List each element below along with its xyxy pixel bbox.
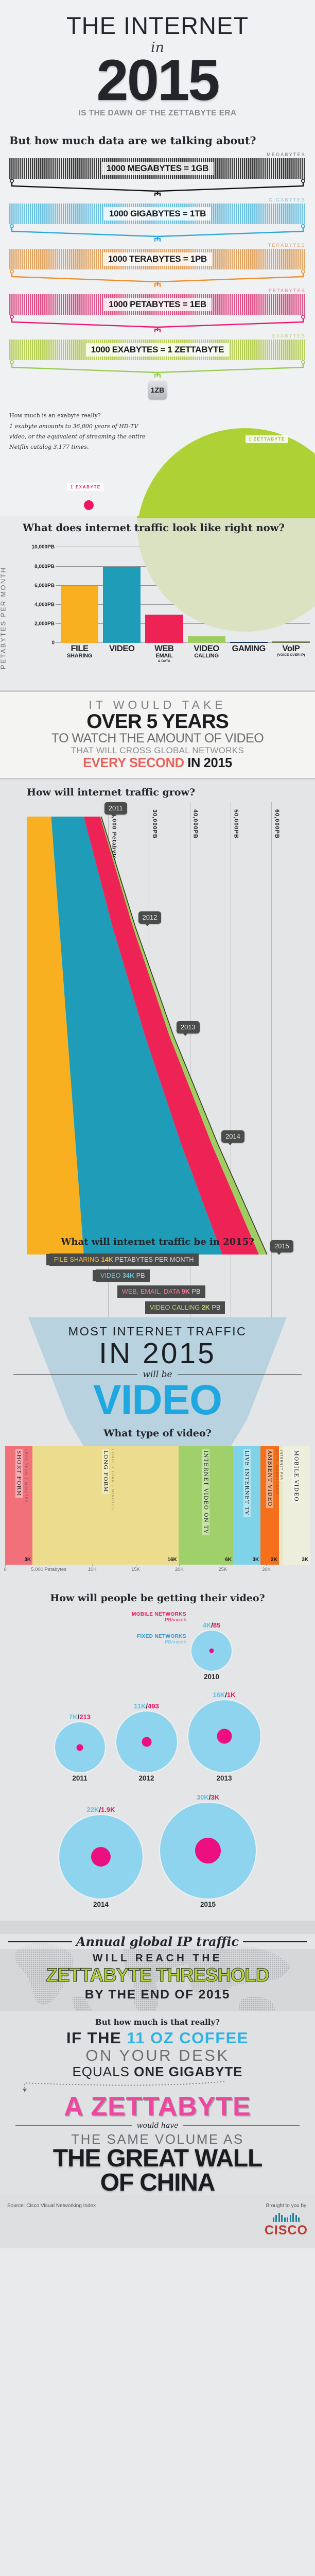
y-axis-tick-label: 0: [17, 640, 55, 646]
ladder-row: PETABYTES1000 PETABYTES = 1EB: [9, 288, 306, 332]
ladder-connector: [9, 269, 306, 287]
callout-value: 2K: [202, 1304, 210, 1311]
ladder-row: EXABYTES1000 EXABYTES = 1 ZETTABYTE: [9, 333, 306, 374]
bar: [145, 615, 183, 643]
exabyte-note: How much is an exabyte really? 1 exabyte…: [9, 411, 151, 452]
bubble-fixed-value: 22K: [87, 1806, 99, 1814]
traffic-2015-heading: What will internet traffic be in 2015?: [0, 1236, 315, 1247]
bubble-fixed-ring: [188, 1700, 260, 1772]
video-axis-tick: 25K: [218, 1567, 227, 1572]
bar-label-line2: CALLING: [188, 653, 225, 659]
bar-column: [145, 547, 183, 643]
bar-label: VIDEOCALLING: [188, 645, 225, 682]
current-traffic-title: What does internet traffic look like rig…: [0, 516, 315, 534]
y-axis-tick-label: 6,000PB: [17, 583, 55, 588]
bubble-fixed-ring: [160, 1803, 256, 1899]
bar-column: [272, 547, 310, 643]
bubble-mobile-value: 85: [213, 1621, 220, 1629]
bar-label: VIDEO: [103, 645, 141, 682]
zthr-line-1-text: Annual global IP traffic: [76, 1934, 239, 1949]
video-type-sub: LONGER THAN 7 MINUTES: [111, 1449, 114, 1511]
bubble-2015: 30K/3K2015: [160, 1793, 256, 1908]
banner-line-4: THAT WILL CROSS GLOBAL NETWORKS: [5, 745, 310, 756]
callout-list: FILE SHARING 14K PETABYTES PER MONTHVIDE…: [0, 1253, 315, 1314]
bar-label-line1: VIDEO: [188, 645, 225, 653]
ladder-row-caption: TERABYTES: [9, 243, 306, 248]
bubble-fixed-value: 16K: [213, 1691, 225, 1699]
callout-pill: WEB, EMAIL, DATA 9K PB: [117, 1285, 205, 1298]
video-type-name: AMBIENT VIDEO: [266, 1449, 273, 1507]
ladder-rows: MEGABYTES1000 MEGABYTES = 1GBGIGABYTES10…: [9, 152, 306, 374]
video-type-value: 6K: [225, 1557, 232, 1563]
coffee-comparison-section: But how much is that really? IF THE 11 O…: [0, 2011, 315, 2195]
bubble-mobile-value: 213: [79, 1713, 91, 1721]
video-type-segment: INTERNET VIDEO ON TV6K: [179, 1446, 233, 1565]
traffic-callout: WEB, EMAIL, DATA 9K PB: [0, 1285, 315, 1298]
year-pill: 2013: [177, 1021, 200, 1033]
video-type-segment: AMBIENT VIDEOCCTV, NANNYCAMS2K: [260, 1446, 278, 1565]
bubble-mobile-core: [195, 1838, 221, 1863]
y-axis-title: PETABYTES PER MONTH: [0, 567, 7, 669]
zthr-line-4: BY THE END OF 2015: [0, 1988, 315, 2002]
bar-column: [103, 547, 141, 643]
exabyte-answer: 1 exabyte amounts to 36,000 years of HD-…: [9, 421, 151, 453]
ladder-row-label: 1000 MEGABYTES = 1GB: [101, 162, 214, 175]
traffic-growth-plot: 20,000 Petabytes30,000PB40,000PB50,000PB…: [0, 802, 315, 1317]
video-axis-tick: 0: [4, 1567, 6, 1572]
video-axis-tick: 20K: [175, 1567, 184, 1572]
banner-line-2: OVER 5 YEARS: [5, 711, 310, 732]
bubble-2013: 16K/1K2013: [188, 1691, 260, 1782]
callout-unit: PB: [192, 1288, 201, 1295]
video-type-segment: LONG FORMLONGER THAN 7 MINUTES16K: [32, 1446, 179, 1565]
callout-pill: FILE SHARING 14K PETABYTES PER MONTH: [49, 1253, 199, 1266]
traffic-2015-callouts: What will internet traffic be in 2015? F…: [0, 1229, 315, 1317]
traffic-growth-title: How will internet traffic grow?: [0, 779, 315, 802]
bar-series: [61, 547, 310, 643]
video-type-value: 2K: [271, 1557, 277, 1563]
year-pill: 2014: [221, 1130, 244, 1143]
coffee-line-5: would have: [3, 2122, 312, 2130]
bubble-fixed-ring: [191, 1631, 232, 1671]
video-type-value: 3K: [302, 1557, 308, 1563]
bubble-2014: 22K/1.9K2014: [59, 1806, 143, 1908]
bar-label: FILESHARING: [61, 645, 98, 682]
bar-label: GAMING: [230, 645, 268, 682]
ladder-row-label: 1000 TERABYTES = 1PB: [103, 252, 212, 266]
dotted-arrow-icon: [3, 2080, 312, 2093]
banner-every-second: EVERY SECOND: [83, 756, 184, 770]
bubble-mobile-core: [91, 1847, 111, 1867]
video-type-name: INTERNET PVR: [279, 1449, 283, 1481]
bar-column: [188, 547, 225, 643]
hero-subtitle: IS THE DAWN OF THE ZETTABYTE ERA: [0, 109, 315, 118]
ladder-row: GIGABYTES1000 GIGABYTES = 1TB: [9, 197, 306, 242]
video-types-title: What type of video?: [0, 1419, 315, 1446]
bubble-fixed-value: 4K: [203, 1621, 212, 1629]
zettabyte-threshold-inner: Annual global IP traffic WILL REACH THE …: [0, 1934, 315, 2002]
exabyte-note-section: 1ZB 1 ZETTABYTE 1 EXABYTE How much is an…: [0, 378, 315, 516]
callout-name: VIDEO: [100, 1272, 120, 1279]
callout-pill: VIDEO 34K PB: [96, 1269, 150, 1282]
video-type-sub: CCTV, NANNYCAMS: [275, 1449, 278, 1495]
bar-label-line3: (VOICE OVER IP): [272, 653, 310, 657]
bubble-values: 16K/1K: [188, 1691, 260, 1699]
year-pill: 2015: [270, 1240, 293, 1252]
video-type-name: LONG FORM: [102, 1449, 109, 1494]
coffee-line-1: IF THE 11 OZ COFFEE: [3, 2030, 312, 2047]
source-text: Source: Cisco Visual Networking Index: [7, 2203, 96, 2209]
legend-fixed: FIXED NETWORKS PB/month: [83, 1634, 186, 1645]
bar: [188, 636, 225, 643]
bar: [272, 641, 310, 643]
ladder-row-label: 1000 GIGABYTES = 1TB: [104, 207, 211, 221]
video-type-name: INTERNET VIDEO ON TV: [202, 1449, 209, 1535]
video-types-bar: SHORT FORMLESS THAN 7 MINUTES3KLONG FORM…: [5, 1446, 310, 1565]
video-type-value: 3K: [252, 1557, 259, 1563]
bubble-2010: 4K/852010: [191, 1621, 232, 1681]
video-delivery-title: How will people be getting their video?: [0, 1592, 315, 1604]
banner-in-2015: IN 2015: [184, 756, 232, 770]
ladder-row-bar: 1000 GIGABYTES = 1TB: [9, 204, 306, 224]
video-banner-section: MOST INTERNET TRAFFIC IN 2015 will be VI…: [0, 1317, 315, 1420]
coffee-great-wall: THE GREAT WALL: [3, 2146, 312, 2171]
exabyte-tag: 1 EXABYTE: [67, 483, 104, 491]
video-banner-line-1: MOST INTERNET TRAFFIC: [0, 1325, 315, 1338]
five-years-banner: IT WOULD TAKE OVER 5 YEARS TO WATCH THE …: [0, 690, 315, 779]
callout-value: 14K: [101, 1256, 113, 1263]
bubble-mobile-core: [209, 1649, 214, 1653]
banner-line-3: TO WATCH THE AMOUNT OF VIDEO: [5, 732, 310, 745]
video-type-name: LIVE INTERNET TV: [243, 1449, 251, 1517]
bubble-mobile-value: 493: [148, 1702, 159, 1710]
bubble-fixed-ring: [59, 1815, 143, 1899]
zettabyte-tag: 1 ZETTABYTE: [246, 435, 288, 443]
bubble-values: 7K/213: [55, 1713, 105, 1721]
zettabyte-blob: [137, 428, 315, 516]
bubble-mobile-value: 1K: [227, 1691, 236, 1699]
video-types-section: What type of video? SHORT FORMLESS THAN …: [0, 1419, 315, 1585]
page-title: THE INTERNET: [0, 13, 315, 38]
video-type-value: 3K: [24, 1557, 31, 1563]
bubble-group-2010: 4K/852010: [191, 1621, 232, 1681]
bar: [230, 642, 268, 643]
video-type-value: 16K: [167, 1557, 177, 1563]
ladder-connector: [9, 224, 306, 242]
video-banner-line-2: IN 2015: [0, 1338, 315, 1368]
coffee-11oz: 11 OZ COFFEE: [127, 2029, 249, 2047]
coffee-if-the: IF THE: [66, 2029, 127, 2047]
coffee-line-6: THE SAME VOLUME AS: [3, 2132, 312, 2147]
video-type-sub: LESS THAN 7 MINUTES: [24, 1449, 28, 1503]
banner-line-1: IT WOULD TAKE: [5, 698, 310, 712]
ladder-row-bar: 1000 TERABYTES = 1PB: [9, 249, 306, 269]
video-axis-tick: 15K: [131, 1567, 140, 1572]
year-pill: 2012: [138, 911, 162, 924]
bubble-row-3: 22K/1.9K201430K/3K2015: [0, 1793, 315, 1908]
bubble-fixed-value: 7K: [69, 1713, 78, 1721]
legend-fixed-unit: PB/month: [83, 1640, 186, 1645]
bar-category-labels: FILESHARINGVIDEOWEBEMAIL& DATAVIDEOCALLI…: [61, 645, 310, 682]
ladder-connector: [9, 360, 306, 374]
video-type-segment: SHORT FORMLESS THAN 7 MINUTES3K: [5, 1446, 32, 1565]
bubble-year: 2013: [188, 1774, 260, 1782]
bar-label: VoIP(VOICE OVER IP): [272, 645, 310, 682]
bubble-year: 2011: [55, 1774, 105, 1782]
bubble-values: 4K/85: [191, 1621, 232, 1629]
current-traffic-plot: PETABYTES PER MONTH 02,000PB4,000PB6,000…: [0, 537, 315, 686]
traffic-callout: FILE SHARING 14K PETABYTES PER MONTH: [0, 1253, 315, 1266]
ladder-row-bar: 1000 PETABYTES = 1EB: [9, 294, 306, 315]
bubble-year: 2014: [59, 1901, 143, 1908]
bubble-fixed-value: 30K: [197, 1793, 209, 1801]
bubble-mobile-core: [77, 1744, 83, 1751]
coffee-of-china: OF CHINA: [3, 2171, 312, 2195]
ladder-row-bar: 1000 EXABYTES = 1 ZETTABYTE: [9, 340, 306, 360]
ladder-row-label: 1000 EXABYTES = 1 ZETTABYTE: [86, 343, 229, 357]
zthr-line-3: ZETTABYTE THRESHOLD: [0, 1965, 315, 1985]
ladder-row-label: 1000 PETABYTES = 1EB: [103, 298, 212, 311]
callout-unit: PB: [212, 1304, 221, 1311]
video-type-segment: INTERNET PVR: [279, 1446, 283, 1565]
bar: [61, 586, 98, 643]
coffee-zettabyte: A ZETTABYTE: [3, 2093, 312, 2120]
traffic-growth-section: How will internet traffic grow? 20,000 P…: [0, 779, 315, 1317]
bar-column: [61, 547, 98, 643]
y-axis-tick-label: 10,000PB: [17, 545, 55, 550]
ladder-row-caption: GIGABYTES: [9, 197, 306, 202]
callout-value: 34K: [122, 1272, 134, 1279]
coffee-equals: EQUALS: [72, 2064, 134, 2079]
y-axis-tick-label: 2,000PB: [17, 621, 55, 627]
legend-mobile: MOBILE NETWORKS PB/month: [83, 1612, 186, 1623]
bar-label-line2: SHARING: [61, 653, 98, 659]
bar-label-line3: & DATA: [145, 659, 183, 663]
coffee-one-gigabyte: ONE GIGABYTE: [134, 2064, 242, 2079]
callout-unit: PETABYTES PER MONTH: [115, 1256, 194, 1263]
video-type-name: SHORT FORM: [15, 1449, 23, 1498]
video-type-segment: MOBILE VIDEO3K: [283, 1446, 310, 1565]
ladder-connector: [9, 315, 306, 332]
bubble-mobile-value: 3K: [211, 1793, 219, 1801]
callout-pill: VIDEO CALLING 2K PB: [145, 1301, 225, 1314]
bubble-values: 11K/493: [116, 1702, 177, 1710]
bubble-year: 2015: [160, 1901, 256, 1908]
exabyte-question: How much is an exabyte really?: [9, 411, 151, 421]
bar-label: WEBEMAIL& DATA: [145, 645, 183, 682]
coffee-question: But how much is that really?: [3, 2018, 312, 2027]
bubble-fixed-value: 11K: [134, 1702, 146, 1710]
dotted-arrow-svg: [3, 2080, 315, 2093]
video-delivery-section: How will people be getting their video? …: [0, 1585, 315, 1921]
cisco-logo-bars-icon: [265, 2212, 308, 2222]
callout-name: FILE SHARING: [54, 1256, 99, 1263]
zthr-line-2: WILL REACH THE: [0, 1952, 315, 1964]
ladder-heading: But how much data are we talking about?: [9, 134, 306, 147]
bubble-row-1: MOBILE NETWORKS PB/month FIXED NETWORKS …: [0, 1612, 315, 1681]
ladder-row: MEGABYTES1000 MEGABYTES = 1GB: [9, 152, 306, 196]
video-type-name: MOBILE VIDEO: [292, 1449, 300, 1503]
video-axis-tick: 5,000 Petabytes: [31, 1567, 66, 1572]
ladder-connector: [9, 179, 306, 196]
bubble-row-2: 7K/213201111K/493201216K/1K2013: [0, 1691, 315, 1782]
infographic-page: THE INTERNET in 2015 IS THE DAWN OF THE …: [0, 0, 315, 2248]
bar-label-line1: GAMING: [230, 645, 268, 653]
bubble-mobile-core: [142, 1737, 151, 1747]
legend-mobile-unit: PB/month: [83, 1618, 186, 1623]
bubble-values: 22K/1.9K: [59, 1806, 143, 1814]
zettabyte-threshold-section: Annual global IP traffic WILL REACH THE …: [0, 1921, 315, 2011]
callout-unit: PB: [136, 1272, 145, 1279]
footer: Source: Cisco Visual Networking Index Br…: [0, 2195, 315, 2248]
brought-to-you-by: Brought to you by CISCO: [265, 2203, 308, 2238]
current-traffic-chart-section: What does internet traffic look like rig…: [0, 516, 315, 690]
cisco-wordmark: CISCO: [265, 2223, 308, 2238]
callout-value: 9K: [182, 1288, 190, 1295]
video-axis-tick: 10K: [88, 1567, 97, 1572]
bubble-2012: 11K/4932012: [116, 1702, 177, 1782]
bubble-year: 2010: [191, 1673, 232, 1681]
bar-column: [230, 547, 268, 643]
bubble-fixed-ring: [55, 1722, 105, 1772]
bubble-values: 30K/3K: [160, 1793, 256, 1801]
video-type-segment: LIVE INTERNET TV3K: [233, 1446, 260, 1565]
byte-ladder-section: But how much data are we talking about? …: [0, 123, 315, 378]
ladder-row-caption: MEGABYTES: [9, 152, 306, 157]
bar-label-line1: FILE: [61, 645, 98, 653]
bar-label-line1: VIDEO: [103, 645, 141, 653]
bubble-legend: MOBILE NETWORKS PB/month FIXED NETWORKS …: [83, 1612, 191, 1681]
hero-section: THE INTERNET in 2015 IS THE DAWN OF THE …: [0, 0, 315, 123]
ladder-row-bar: 1000 MEGABYTES = 1GB: [9, 158, 306, 179]
zettabyte-chip: 1ZB: [148, 381, 167, 399]
bar: [103, 567, 141, 643]
traffic-callout: VIDEO 34K PB: [0, 1269, 315, 1282]
bar-label-line1: VoIP: [272, 645, 310, 653]
traffic-callout: VIDEO CALLING 2K PB: [0, 1301, 315, 1314]
bubble-year: 2012: [116, 1774, 177, 1782]
brought-label: Brought to you by: [265, 2203, 308, 2209]
coffee-would-have: would have: [137, 2122, 179, 2130]
y-axis-tick-label: 4,000PB: [17, 602, 55, 607]
ladder-row-caption: EXABYTES: [9, 333, 306, 338]
video-axis-tick: 30K: [262, 1567, 271, 1572]
year-pill: 2011: [104, 802, 127, 815]
ladder-row-caption: PETABYTES: [9, 288, 306, 293]
banner-line-5: EVERY SECOND IN 2015: [5, 756, 310, 771]
coffee-line-2: ON YOUR DESK: [3, 2047, 312, 2064]
video-banner-word: VIDEO: [0, 1381, 315, 1419]
video-banner-inner: MOST INTERNET TRAFFIC IN 2015 will be VI…: [0, 1325, 315, 1420]
bubble-2011: 7K/2132011: [55, 1713, 105, 1782]
bubble-mobile-value: 1.9K: [101, 1806, 115, 1814]
hero-year: 2015: [0, 56, 315, 105]
bar-label-line1: WEB: [145, 645, 183, 653]
bubble-fixed-ring: [116, 1711, 177, 1772]
callout-name: VIDEO CALLING: [150, 1304, 200, 1311]
ladder-row: TERABYTES1000 TERABYTES = 1PB: [9, 243, 306, 287]
y-axis-tick-label: 8,000PB: [17, 564, 55, 569]
zthr-line-1: Annual global IP traffic: [0, 1934, 315, 1949]
video-types-axis: 05,000 Petabytes10K15K20K25K30K: [5, 1567, 310, 1580]
bubble-mobile-core: [217, 1729, 232, 1744]
bar-label-line2: EMAIL: [145, 653, 183, 659]
coffee-line-3: EQUALS ONE GIGABYTE: [3, 2064, 312, 2080]
exabyte-dot: [84, 500, 94, 510]
callout-name: WEB, EMAIL, DATA: [122, 1288, 180, 1295]
